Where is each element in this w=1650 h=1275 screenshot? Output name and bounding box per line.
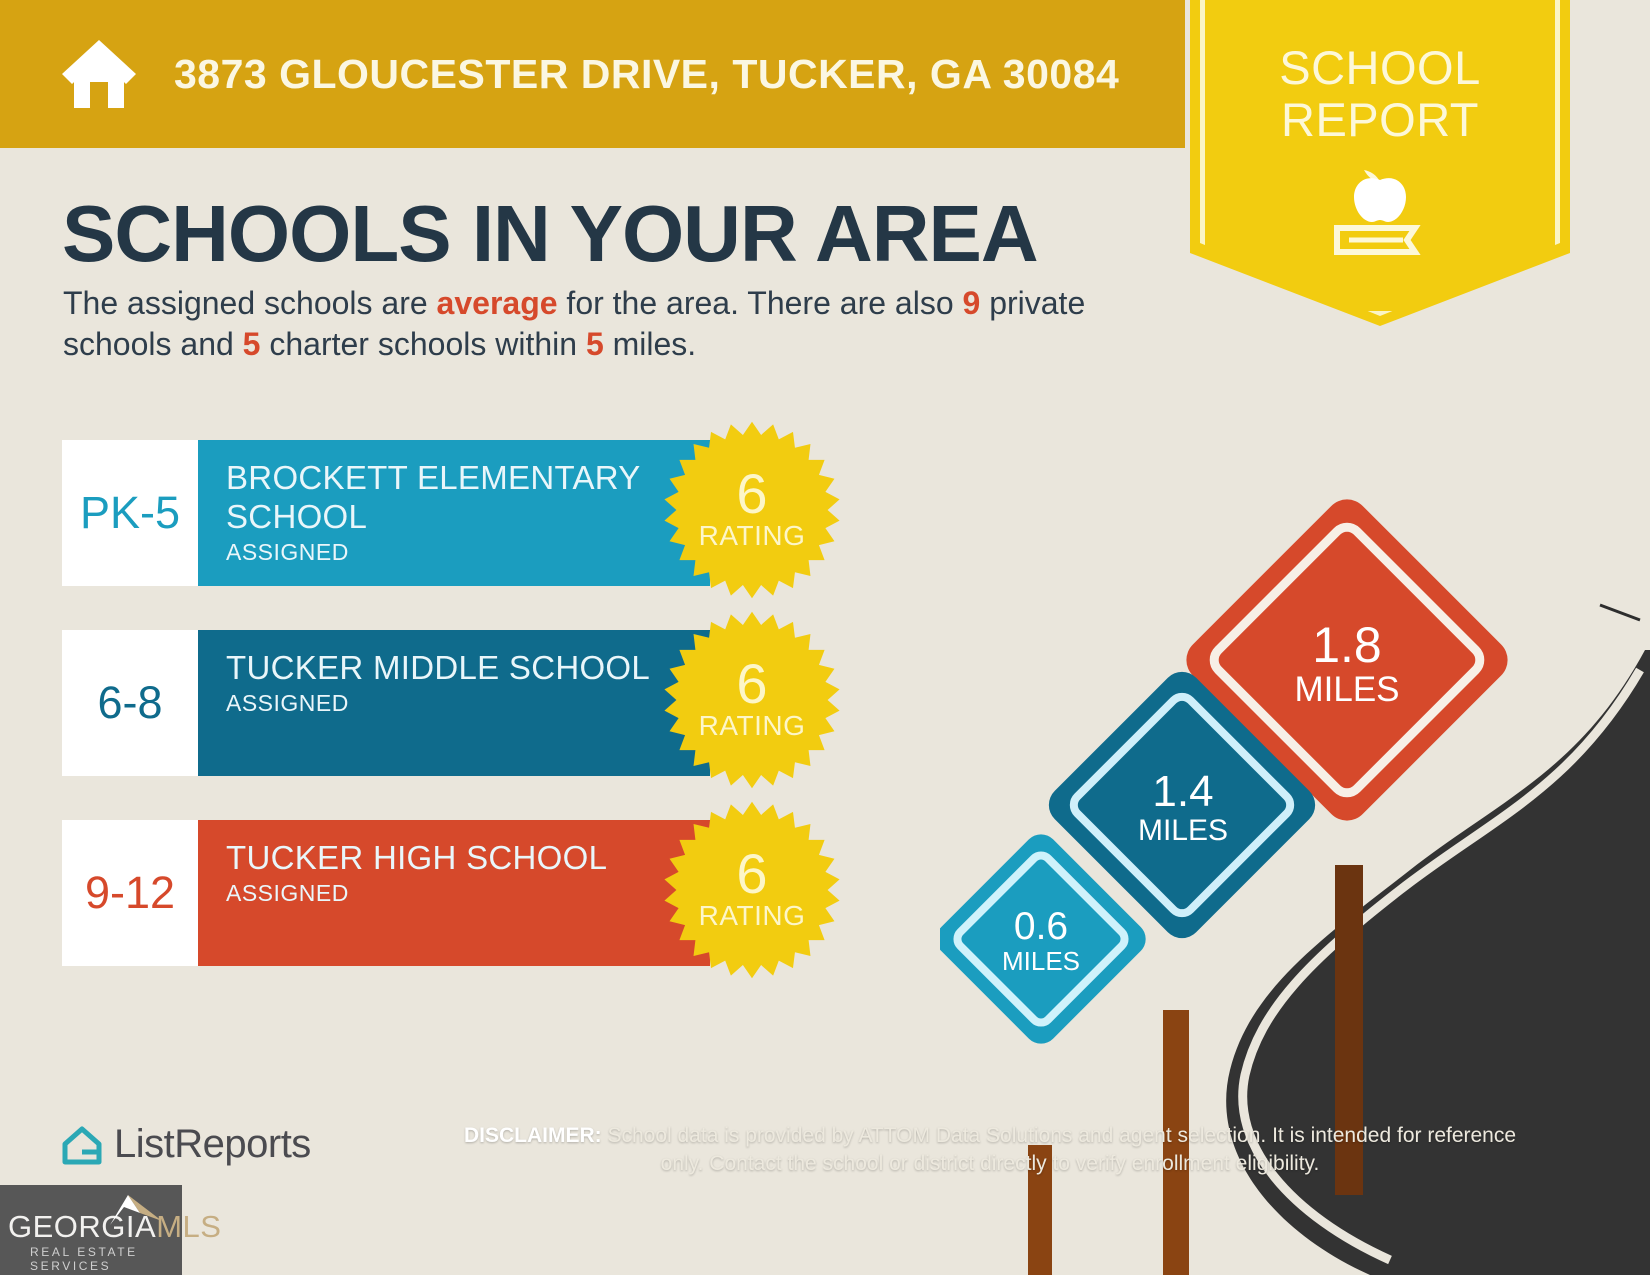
listreports-logo[interactable]: ListReports [60,1122,311,1167]
subtitle-part-2: for the area. There are also [558,285,963,321]
wire [1600,605,1640,620]
rating-value: 6 [736,848,767,900]
header-bar: 3873 GLOUCESTER DRIVE, TUCKER, GA 30084 [0,0,1185,148]
subtitle-part-5: miles. [604,326,696,362]
subtitle-highlight-radius: 5 [586,326,604,362]
rating-label: RATING [699,520,806,552]
house-outline-icon [60,1124,104,1166]
school-status: ASSIGNED [226,539,710,566]
georgia-mls-logo: GEORGIAMLS REAL ESTATE SERVICES [0,1185,182,1275]
subtitle: The assigned schools are average for the… [63,283,1103,365]
subtitle-highlight-average: average [437,285,558,321]
rating-value: 6 [736,658,767,710]
school-bar: TUCKER HIGH SCHOOL ASSIGNED [198,820,710,966]
school-row[interactable]: 6-8 TUCKER MIDDLE SCHOOL ASSIGNED 6 RATI… [62,630,710,776]
subtitle-highlight-charter-count: 5 [243,326,261,362]
disclaimer-label: DISCLAIMER: [464,1124,602,1147]
school-row[interactable]: PK-5 BROCKETT ELEMENTARY SCHOOL ASSIGNED… [62,440,710,586]
distance-value: 1.8 [1277,620,1417,670]
badge-title: SCHOOL REPORT [1190,42,1570,146]
listreports-name: ListReports [114,1122,311,1167]
subtitle-highlight-private-count: 9 [963,285,981,321]
distance-unit: MILES [1120,814,1246,848]
distance-unit: MILES [1277,670,1417,710]
distance-sign-label-1-4: 1.4 MILES [1120,770,1246,848]
school-report-badge: SCHOOL REPORT [1190,0,1570,326]
rating-badge: 6 RATING [662,600,842,800]
disclaimer: DISCLAIMER: School data is provided by A… [460,1122,1520,1178]
distance-sign-label-0-6: 0.6 MILES [985,907,1097,977]
rating-label: RATING [699,710,806,742]
rating-badge: 6 RATING [662,410,842,610]
apple-book-icon [1190,162,1570,267]
school-status: ASSIGNED [226,690,710,717]
school-status: ASSIGNED [226,880,710,907]
school-name: TUCKER MIDDLE SCHOOL [226,648,710,687]
rating-value: 6 [736,468,767,520]
school-name: BROCKETT ELEMENTARY SCHOOL [226,458,710,536]
disclaimer-text: School data is provided by ATTOM Data So… [602,1124,1516,1175]
mls-roof-icon [84,1191,164,1231]
subtitle-part-1: The assigned schools are [63,285,437,321]
home-icon [60,38,138,110]
grade-badge: PK-5 [62,440,198,586]
mls-mls: MLS [156,1209,221,1244]
grade-badge: 9-12 [62,820,198,966]
property-address: 3873 GLOUCESTER DRIVE, TUCKER, GA 30084 [174,51,1119,98]
school-bar: BROCKETT ELEMENTARY SCHOOL ASSIGNED [198,440,710,586]
school-bar: TUCKER MIDDLE SCHOOL ASSIGNED [198,630,710,776]
rating-label: RATING [699,900,806,932]
page-title: SCHOOLS IN YOUR AREA [62,188,1038,280]
school-name: TUCKER HIGH SCHOOL [226,838,710,877]
badge-line-2: REPORT [1190,94,1570,146]
distance-unit: MILES [985,946,1097,977]
school-row[interactable]: 9-12 TUCKER HIGH SCHOOL ASSIGNED 6 RATIN… [62,820,710,966]
rating-badge: 6 RATING [662,790,842,990]
school-list: PK-5 BROCKETT ELEMENTARY SCHOOL ASSIGNED… [62,440,710,1010]
subtitle-part-4: charter schools within [260,326,585,362]
distance-value: 0.6 [985,907,1097,946]
distance-sign-label-1-8: 1.8 MILES [1277,620,1417,710]
mls-tagline: REAL ESTATE SERVICES [0,1245,182,1273]
badge-line-1: SCHOOL [1190,42,1570,94]
grade-badge: 6-8 [62,630,198,776]
distance-value: 1.4 [1120,770,1246,814]
